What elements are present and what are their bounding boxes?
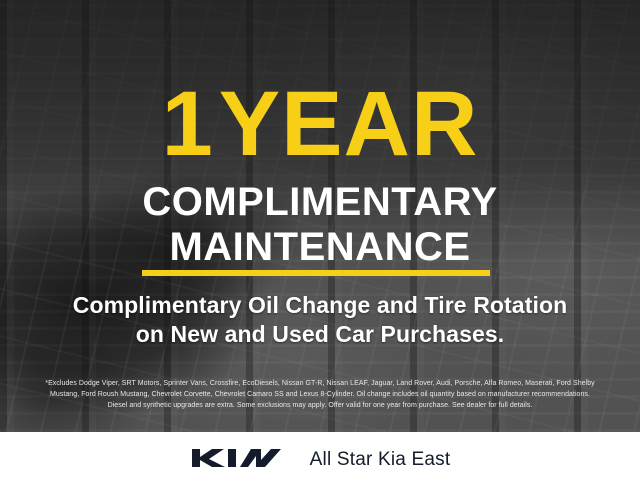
- dealer-footer: All Star Kia East: [0, 432, 640, 488]
- offer-description: Complimentary Oil Change and Tire Rotati…: [0, 291, 640, 349]
- offer-line-2: on New and Used Car Purchases.: [0, 320, 640, 349]
- headline-duration-number: 1: [162, 73, 219, 175]
- kia-maintenance-ad: 1YEAR COMPLIMENTARY MAINTENANCE Complime…: [0, 0, 640, 488]
- disclaimer-line-1: *Excludes Dodge Viper, SRT Motors, Sprin…: [12, 378, 628, 389]
- hero-content: 1YEAR COMPLIMENTARY MAINTENANCE Complime…: [0, 0, 640, 432]
- headline-line-complimentary: COMPLIMENTARY: [142, 180, 497, 224]
- headline-duration-unit: YEAR: [219, 73, 479, 175]
- kia-logo: [190, 445, 282, 476]
- headline-duration: 1YEAR: [0, 78, 640, 170]
- yellow-divider-rule: [142, 270, 490, 276]
- dealer-name: All Star Kia East: [310, 449, 451, 471]
- brand-lockup: All Star Kia East: [190, 445, 451, 476]
- hero-banner: 1YEAR COMPLIMENTARY MAINTENANCE Complime…: [0, 0, 640, 432]
- disclaimer-line-2: Mustang, Ford Roush Mustang, Chevrolet C…: [12, 389, 628, 400]
- offer-line-1: Complimentary Oil Change and Tire Rotati…: [73, 292, 568, 318]
- headline-offer-type: COMPLIMENTARY MAINTENANCE: [0, 180, 640, 270]
- disclaimer-line-3: Diesel and synthetic upgrades are extra.…: [12, 400, 628, 411]
- disclaimer-fine-print: *Excludes Dodge Viper, SRT Motors, Sprin…: [12, 378, 628, 411]
- headline-line-maintenance: MAINTENANCE: [0, 225, 640, 270]
